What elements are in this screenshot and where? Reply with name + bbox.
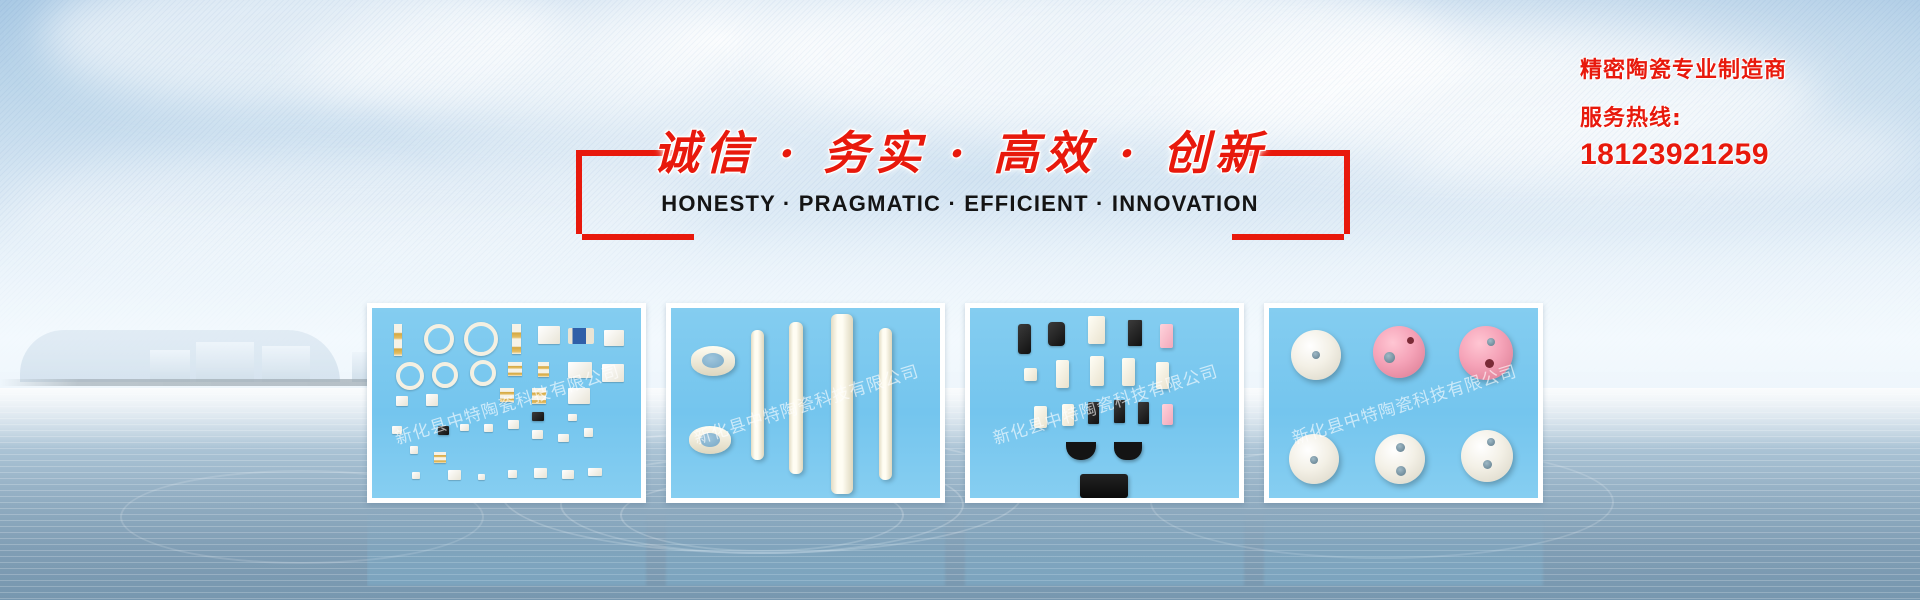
ceramic-trapezoid (1080, 474, 1128, 498)
component-item (484, 424, 493, 432)
component-item (532, 430, 543, 439)
ceramic-disc (1459, 326, 1513, 380)
component-item (508, 470, 517, 478)
product-panel-ceramic-tubes-rings[interactable]: 新化县中特陶瓷科技有限公司 (666, 303, 945, 503)
panel-image-area: 新化县中特陶瓷科技有限公司 (671, 308, 940, 498)
building-shape (150, 350, 190, 382)
component-item (562, 470, 574, 479)
product-panel-smd-chip-components[interactable]: 新化县中特陶瓷科技有限公司 (367, 303, 646, 503)
ceramic-ring (689, 426, 731, 454)
ceramic-disc (1373, 326, 1425, 378)
component-item (438, 426, 449, 435)
ceramic-block (1162, 404, 1173, 425)
panel-reflection-item (1264, 511, 1543, 586)
ceramic-block (1088, 316, 1105, 344)
ceramic-block (1024, 368, 1037, 381)
product-panel-ceramic-discs[interactable]: 新化县中特陶瓷科技有限公司 (1264, 303, 1543, 503)
ceramic-arc (1114, 442, 1142, 460)
ceramic-block (1048, 322, 1065, 346)
component-item (588, 468, 602, 476)
ceramic-block (1062, 404, 1074, 426)
component-item (434, 452, 446, 463)
ceramic-block (1160, 324, 1173, 348)
ceramic-block (1090, 356, 1104, 386)
component-item (538, 362, 549, 377)
ceramic-arc (1066, 442, 1096, 460)
component-item (532, 412, 544, 421)
panel-reflection (367, 511, 1563, 586)
component-item (512, 324, 521, 354)
component-item (500, 388, 514, 402)
component-item (470, 360, 496, 386)
promo-banner: 诚信 · 务实 · 高效 · 创新 HONESTY · PRAGMATIC · … (0, 0, 1920, 600)
ceramic-tube (789, 322, 803, 474)
ceramic-disc (1375, 434, 1425, 484)
contact-block: 精密陶瓷专业制造商 服务热线: 18123921259 (1580, 52, 1787, 172)
component-item (538, 326, 560, 344)
slogan-english: HONESTY · PRAGMATIC · EFFICIENT · INNOVA… (0, 191, 1920, 217)
ceramic-block (1156, 362, 1169, 389)
component-item (394, 324, 402, 356)
ceramic-block (1128, 320, 1142, 346)
component-item (604, 330, 624, 346)
ceramic-ring (691, 346, 735, 376)
component-item (558, 434, 569, 442)
ceramic-tube (879, 328, 892, 480)
ceramic-disc (1291, 330, 1341, 380)
panel-reflection-item (367, 511, 646, 586)
component-item (568, 414, 577, 421)
component-item (396, 362, 424, 390)
ceramic-tube (751, 330, 764, 460)
component-item (412, 472, 420, 479)
panel-image-area: 新化县中特陶瓷科技有限公司 (372, 308, 641, 498)
component-item (532, 388, 546, 404)
ceramic-disc (1289, 434, 1339, 484)
panel-reflection-item (666, 511, 945, 586)
component-item (392, 426, 402, 434)
ceramic-block (1034, 406, 1047, 428)
ceramic-disc (1461, 430, 1513, 482)
hotline-label: 服务热线: (1580, 100, 1787, 132)
component-item (448, 470, 461, 480)
product-panel-row: 新化县中特陶瓷科技有限公司 新化县中特陶瓷科技有限公司 (367, 303, 1563, 503)
ceramic-block (1114, 400, 1125, 423)
ceramic-block (1088, 402, 1099, 424)
component-item (584, 428, 593, 437)
ceramic-block (1122, 358, 1135, 386)
ceramic-block (1138, 402, 1149, 424)
panel-image-area: 新化县中特陶瓷科技有限公司 (1269, 308, 1538, 498)
component-item (432, 362, 458, 388)
component-item (478, 474, 485, 480)
component-item (534, 468, 547, 478)
component-item (508, 362, 522, 376)
building-shape (196, 342, 254, 382)
product-panel-ceramic-blocks[interactable]: 新化县中特陶瓷科技有限公司 (965, 303, 1244, 503)
component-item (464, 322, 498, 356)
ceramic-block (1018, 324, 1031, 354)
component-item (568, 328, 594, 344)
component-item (396, 396, 408, 406)
ceramic-tube (831, 314, 853, 494)
component-item (460, 424, 469, 431)
component-item (602, 364, 624, 382)
component-item (424, 324, 454, 354)
panel-reflection-item (965, 511, 1244, 586)
component-item (568, 388, 590, 404)
company-tagline: 精密陶瓷专业制造商 (1580, 52, 1787, 84)
component-item (410, 446, 418, 454)
component-item (426, 394, 438, 406)
hotline-number[interactable]: 18123921259 (1580, 138, 1787, 172)
building-shape (262, 346, 310, 382)
ceramic-block (1056, 360, 1069, 388)
component-item (568, 362, 592, 378)
component-item (508, 420, 519, 429)
panel-image-area: 新化县中特陶瓷科技有限公司 (970, 308, 1239, 498)
